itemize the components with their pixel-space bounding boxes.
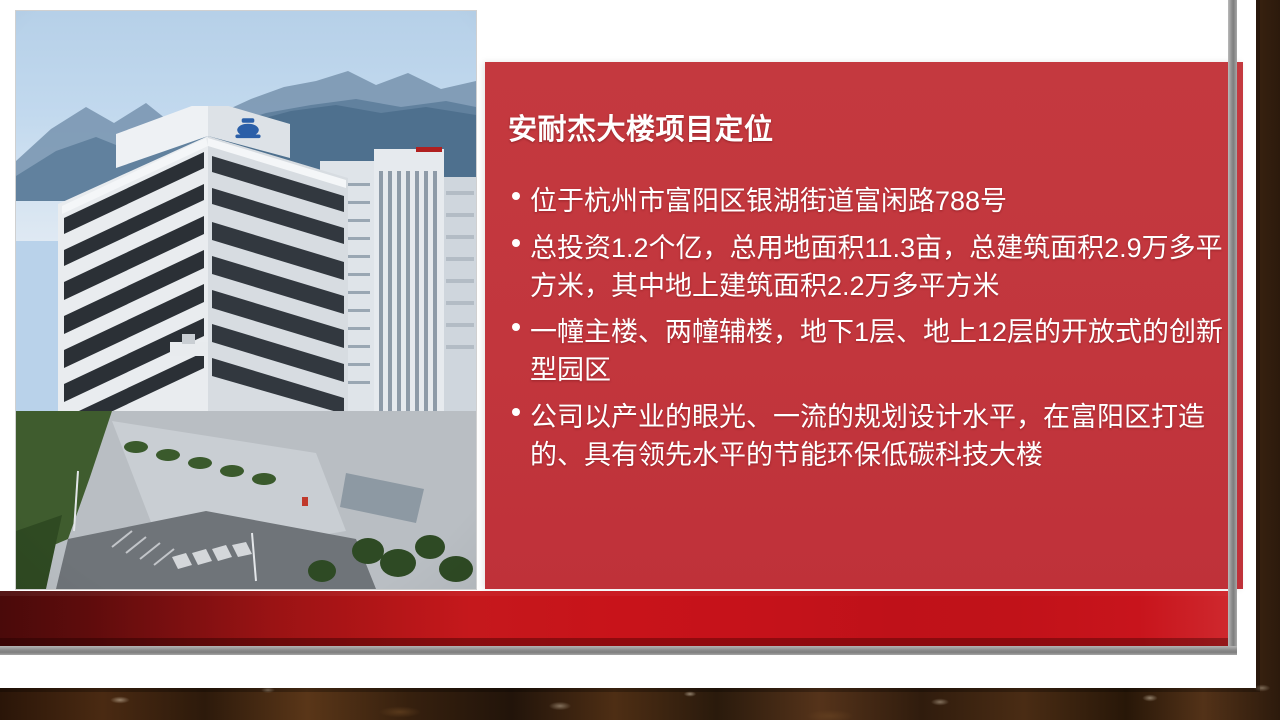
footer-divider-rule bbox=[0, 646, 1237, 655]
list-item-text: 总投资1.2个亿，总用地面积11.3亩，总建筑面积2.9万多平方米，其中地上建筑… bbox=[530, 230, 1239, 306]
list-item: 一幢主楼、两幢辅楼，地下1层、地上12层的开放式的创新型园区 bbox=[504, 314, 1239, 390]
bullet-dot-icon bbox=[512, 323, 520, 331]
list-item-text: 一幢主楼、两幢辅楼，地下1层、地上12层的开放式的创新型园区 bbox=[530, 314, 1239, 390]
list-item: 公司以产业的眼光、一流的规划设计水平，在富阳区打造的、具有领先水平的节能环保低碳… bbox=[504, 399, 1239, 475]
photo-vignette bbox=[16, 11, 476, 589]
bullet-dot-icon bbox=[512, 192, 520, 200]
bullet-dot-icon bbox=[512, 239, 520, 247]
building-photo bbox=[16, 11, 476, 589]
list-item: 位于杭州市富阳区银湖街道富闲路788号 bbox=[504, 183, 1239, 221]
slide-shadow-bottom bbox=[0, 688, 1256, 692]
bullet-dot-icon bbox=[512, 408, 520, 416]
page-title: 安耐杰大楼项目定位 bbox=[508, 106, 774, 148]
footer-band-highlight bbox=[0, 591, 1237, 596]
list-item-text: 位于杭州市富阳区银湖街道富闲路788号 bbox=[530, 183, 1239, 221]
list-item: 总投资1.2个亿，总用地面积11.3亩，总建筑面积2.9万多平方米，其中地上建筑… bbox=[504, 230, 1239, 306]
building-photo-frame bbox=[16, 11, 476, 589]
slide-root: 安耐杰大楼项目定位 位于杭州市富阳区银湖街道富闲路788号 总投资1.2个亿，总… bbox=[0, 0, 1280, 720]
right-divider-rule bbox=[1228, 0, 1237, 646]
slide-shadow-right bbox=[1256, 0, 1260, 692]
content-panel: 安耐杰大楼项目定位 位于杭州市富阳区银湖街道富闲路788号 总投资1.2个亿，总… bbox=[485, 62, 1243, 589]
list-item-text: 公司以产业的眼光、一流的规划设计水平，在富阳区打造的、具有领先水平的节能环保低碳… bbox=[530, 399, 1239, 475]
bullet-list: 位于杭州市富阳区银湖街道富闲路788号 总投资1.2个亿，总用地面积11.3亩，… bbox=[504, 183, 1239, 484]
